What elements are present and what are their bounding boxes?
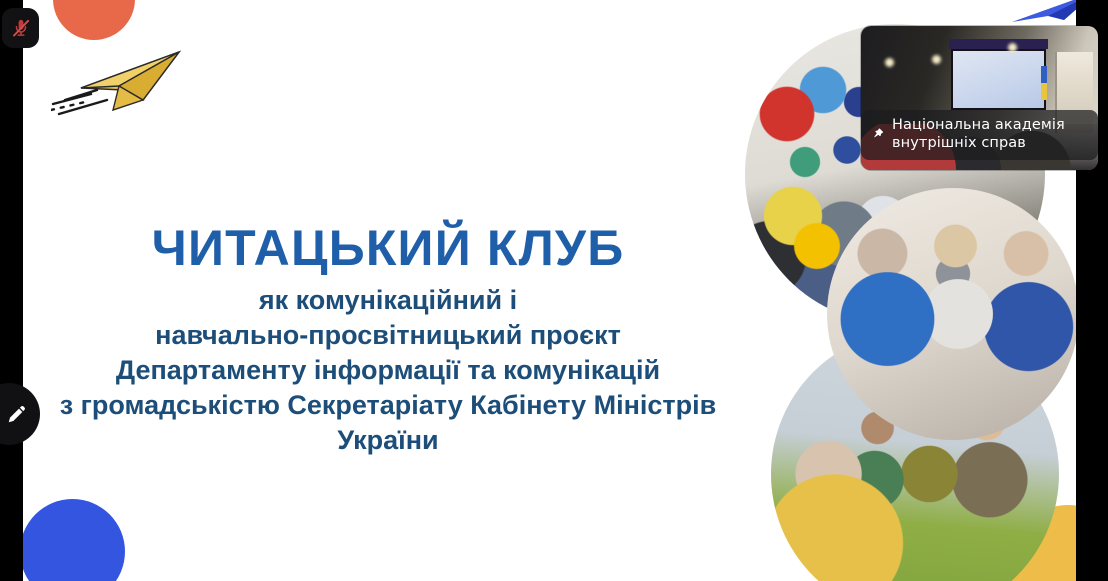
slide-title-block: ЧИТАЦЬКИЙ КЛУБ як комунікаційний і навча… xyxy=(23,222,753,458)
participant-name: Національна академія внутрішніх справ xyxy=(892,116,1089,153)
pinned-video-tile[interactable]: Національна академія внутрішніх справ xyxy=(861,26,1098,170)
subtitle-line-3: Департаменту інформації та комунікацій xyxy=(23,353,753,388)
participant-name-overlay: Національна академія внутрішніх справ xyxy=(861,110,1098,161)
gold-paper-plane-icon xyxy=(51,38,201,118)
subtitle-line-5: України xyxy=(23,423,753,458)
room-lamp xyxy=(885,58,894,67)
photo-panel-three xyxy=(827,188,1076,440)
subtitle-line-2: навчально-просвітницький проєкт xyxy=(23,318,753,353)
blue-circle-decoration xyxy=(23,499,125,581)
orange-circle-decoration xyxy=(53,0,135,40)
meeting-screen: ЧИТАЦЬКИЙ КЛУБ як комунікаційний і навча… xyxy=(0,0,1108,581)
room-projection-screen xyxy=(951,49,1046,109)
pen-icon xyxy=(6,403,28,425)
subtitle-line-1: як комунікаційний і xyxy=(23,283,753,318)
room-lamp xyxy=(932,55,941,64)
pin-icon xyxy=(872,126,885,142)
room-flag xyxy=(1041,66,1047,100)
mic-off-icon xyxy=(10,17,32,39)
subtitle-line-4: з громадськістю Секретаріату Кабінету Мі… xyxy=(23,388,753,423)
mic-off-button[interactable] xyxy=(2,8,39,48)
page-title: ЧИТАЦЬКИЙ КЛУБ xyxy=(23,222,753,275)
room-banner xyxy=(949,39,1049,49)
